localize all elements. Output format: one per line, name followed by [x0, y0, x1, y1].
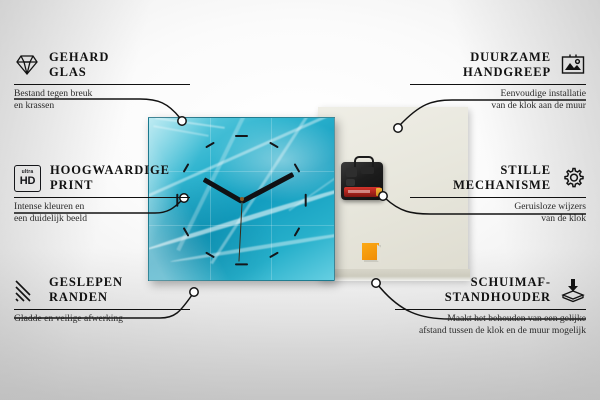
picture-frame-icon [560, 52, 586, 78]
callout-title: SCHUIMAF- STANDHOUDER [445, 275, 551, 306]
callout-geslepen-randen: GESLEPEN RANDEN Gladde en veilige afwerk… [14, 275, 190, 325]
diamond-icon [14, 52, 40, 78]
title-rule [14, 197, 190, 198]
callout-gehard-glas: GEHARD GLAS Bestand tegen breuk en krass… [14, 50, 190, 112]
clock-tick [235, 263, 248, 265]
callout-description: Eenvoudige installatie van de klok aan d… [410, 88, 586, 113]
ultra-hd-icon: ultra HD [14, 165, 41, 192]
hanging-hook-icon [354, 156, 374, 167]
clock-tick [235, 135, 248, 137]
callout-description: Gladde en veilige afwerking [14, 313, 190, 325]
clock-center-pin [240, 197, 244, 201]
title-rule [14, 309, 190, 310]
clock-tick [304, 194, 306, 207]
callout-title: GESLEPEN RANDEN [49, 275, 123, 306]
foam-spacer-icon [560, 277, 586, 303]
battery [344, 187, 381, 197]
callout-title: GEHARD GLAS [49, 50, 109, 81]
callout-description: Maakt het behouden van een gelijke afsta… [395, 313, 586, 338]
callout-title: DUURZAME HANDGREEP [463, 50, 551, 81]
quartz-mechanism [341, 162, 383, 200]
callout-hoogwaardige-print: ultra HD HOOGWAARDIGE PRINT Intense kleu… [14, 163, 190, 225]
infographic-canvas: GEHARD GLAS Bestand tegen breuk en krass… [0, 0, 600, 400]
callout-title: STILLE MECHANISME [453, 163, 551, 194]
callout-description: Bestand tegen breuk en krassen [14, 88, 190, 113]
title-rule [395, 309, 586, 310]
callout-description: Intense kleuren en een duidelijk beeld [14, 201, 190, 226]
callout-schuimafstandhouder: SCHUIMAF- STANDHOUDER Maakt het behouden… [395, 275, 586, 337]
title-rule [410, 197, 586, 198]
clock-tick [294, 227, 301, 237]
beveled-edges-icon [14, 277, 40, 303]
gear-icon [560, 165, 586, 191]
title-rule [14, 84, 190, 85]
second-hand [238, 200, 243, 262]
callout-duurzame-handgreep: DUURZAME HANDGREEP Eenvoudige installati… [410, 50, 586, 112]
callout-description: Geruisloze wijzers van de klok [410, 201, 586, 226]
callout-stille-mechanisme: STILLE MECHANISME Geruisloze wijzers van… [410, 163, 586, 225]
foam-spacer-pad [362, 243, 379, 260]
leader-dot-3 [190, 288, 198, 296]
title-rule [410, 84, 586, 85]
callout-title: HOOGWAARDIGE PRINT [50, 163, 170, 194]
